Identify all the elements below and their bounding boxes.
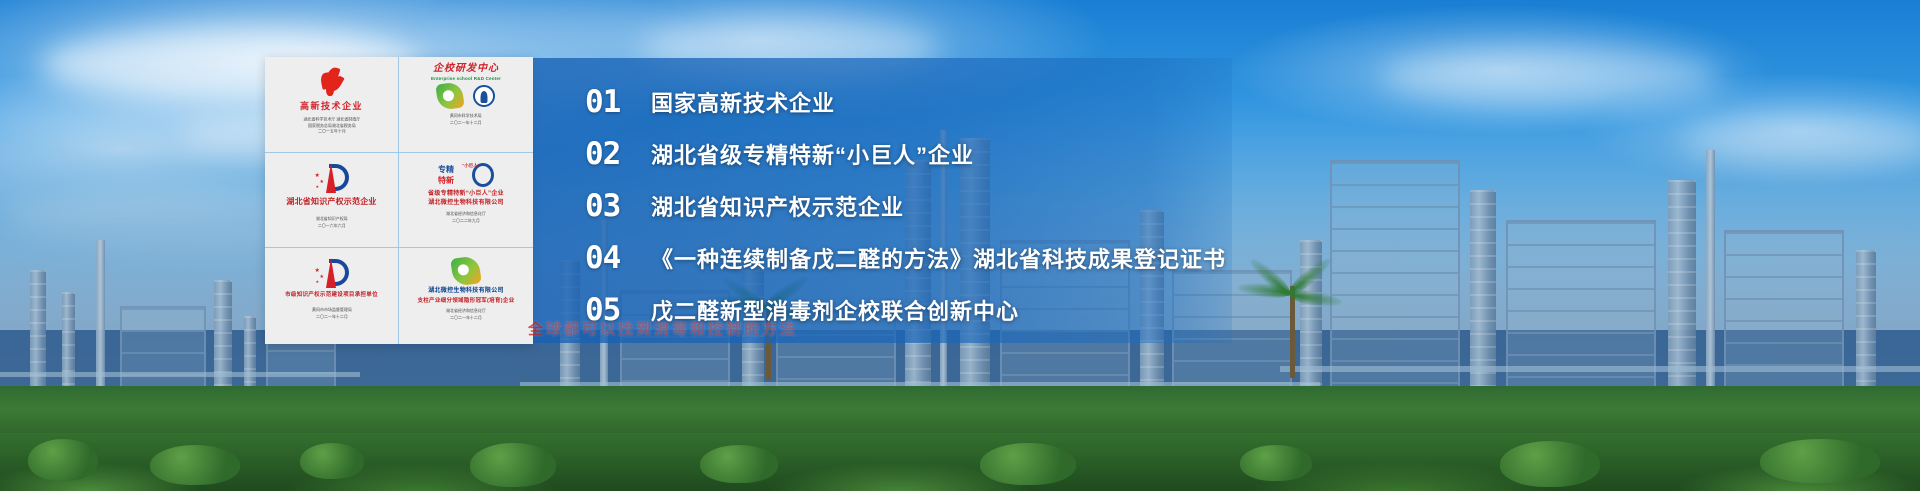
certificate-card[interactable]: 专精 特新 “小巨人” 省级专精特新“小巨人”企业 湖北微控生物科技有限公司 湖…	[399, 153, 533, 249]
grass-foreground	[0, 433, 1920, 491]
certificate-card[interactable]: 企校研发中心 Enterprise school R&D Center 黄冈市科…	[399, 57, 533, 153]
highlight-number: 03	[585, 188, 651, 224]
certificate-card[interactable]: 湖北微控生物科技有限公司 支柱产业细分领域隐形冠军(培育)企业 湖北省经济和信息…	[399, 248, 533, 344]
highlight-number: 02	[585, 136, 651, 172]
certificate-card[interactable]: ★ ★ ★ 市级知识产权示范建设项目承担单位 黄冈市市场监督管理局 二〇二一年十…	[265, 248, 399, 344]
blue-red-sail-icon: ★ ★ ★	[315, 161, 349, 195]
green-leaf-icon	[452, 256, 480, 286]
certificate-title: 市级知识产权示范建设项目承担单位	[285, 292, 378, 299]
watermark-text: 全球都可以找到消毒和控制的方法	[528, 318, 1128, 339]
watermark-lead: 全	[528, 321, 546, 338]
highlight-number: 04	[585, 240, 651, 276]
watermark-body: 球都可以找到消毒和控制的方法	[546, 321, 798, 338]
certificate-issuer: 湖北省科学技术厅 湖北省财政厅 国家税务总局湖北省税务局 二〇一五年十月	[303, 116, 360, 135]
highlight-number: 01	[585, 84, 651, 120]
highlight-text: 湖北省知识产权示范企业	[651, 190, 904, 222]
certificate-subtitle: 湖北微控生物科技有限公司	[428, 200, 504, 207]
enterprise-school-rd-center-icon	[437, 83, 495, 109]
certificate-title-en: Enterprise school R&D Center	[431, 76, 501, 81]
red-flame-icon	[319, 65, 345, 99]
highlight-item[interactable]: 03 湖北省知识产权示范企业	[585, 180, 1232, 232]
blue-red-sail-icon: ★ ★ ★	[315, 256, 349, 290]
certificate-title: 高新技术企业	[300, 101, 363, 112]
certificate-title: 湖北微控生物科技有限公司	[428, 288, 504, 295]
certificate-issuer: 湖北省经济和信息化厅 二〇二一年十二月	[446, 308, 486, 320]
certificate-grid: 高新技术企业 湖北省科学技术厅 湖北省财政厅 国家税务总局湖北省税务局 二〇一五…	[265, 57, 533, 344]
highlight-item[interactable]: 01 国家高新技术企业	[585, 76, 1232, 128]
highlight-text: 湖北省级专精特新“小巨人”企业	[651, 138, 974, 170]
certificate-issuer: 湖北省知识产权局 二〇一六年六月	[316, 217, 348, 229]
certificate-issuer: 黄冈市科学技术局 二〇二一年十二月	[450, 113, 482, 125]
certificate-title: 湖北省知识产权示范企业	[286, 197, 376, 207]
highlight-text: 国家高新技术企业	[651, 86, 835, 118]
certificate-title: 企校研发中心	[433, 63, 499, 75]
certificate-issuer: 黄冈市市场监督管理局 二〇二一年十二月	[312, 307, 352, 319]
highlight-text: 《一种连续制备戊二醛的方法》湖北省科技成果登记证书	[651, 242, 1226, 274]
zhuanjing-texin-icon: 专精 特新 “小巨人”	[438, 161, 494, 189]
certificate-card[interactable]: ★ ★ ★ 湖北省知识产权示范企业 湖北省知识产权局 二〇一六年六月	[265, 153, 399, 249]
highlight-item[interactable]: 02 湖北省级专精特新“小巨人”企业	[585, 128, 1232, 180]
certificate-title: 省级专精特新“小巨人”企业	[428, 191, 504, 198]
highlight-item[interactable]: 04 《一种连续制备戊二醛的方法》湖北省科技成果登记证书	[585, 232, 1232, 284]
certificate-subtitle: 支柱产业细分领域隐形冠军(培育)企业	[417, 298, 514, 305]
certificate-issuer: 湖北省经济和信息化厅 二〇二二年九月	[446, 211, 486, 223]
banner-root: 高新技术企业 湖北省科学技术厅 湖北省财政厅 国家税务总局湖北省税务局 二〇一五…	[0, 0, 1920, 491]
certificate-card[interactable]: 高新技术企业 湖北省科学技术厅 湖北省财政厅 国家税务总局湖北省税务局 二〇一五…	[265, 57, 399, 153]
highlights-panel: 01 国家高新技术企业 02 湖北省级专精特新“小巨人”企业 03 湖北省知识产…	[533, 58, 1232, 343]
